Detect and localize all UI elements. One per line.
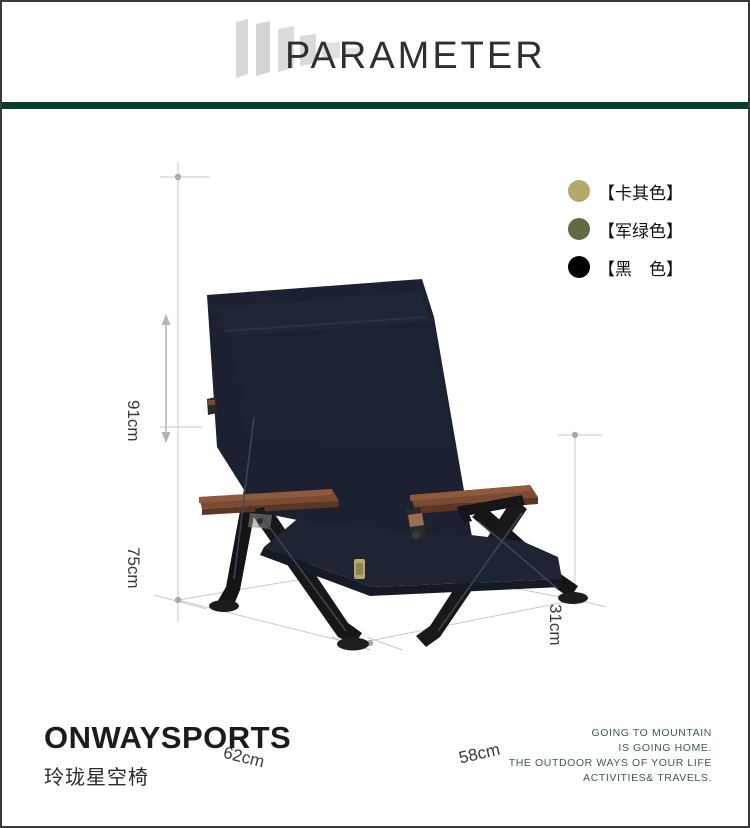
seat-buckle: [354, 559, 365, 579]
folding-recliner-chair: [199, 279, 588, 651]
product-name: 玲珑星空椅: [44, 761, 291, 790]
product-dimension-diagram: 91cm 75cm 31cm 62cm 58cm: [2, 117, 748, 677]
page-footer: ONWAYSPORTS 玲珑星空椅 GOING TO MOUNTAIN IS G…: [2, 708, 748, 826]
dimension-label-seat-height: 31cm: [545, 604, 565, 646]
dimension-label-back-height: 91cm: [123, 400, 143, 442]
dimension-label-seat-back-height: 75cm: [123, 547, 143, 589]
header-divider: [2, 102, 748, 109]
brand-name: ONWAYSPORTS: [44, 720, 291, 756]
tagline-line-3: THE OUTDOOR WAYS OF YOUR LIFE: [509, 756, 712, 771]
tagline-line-2: IS GOING HOME.: [509, 741, 712, 756]
parameter-spec-page: PARAMETER 【卡其色】 【军绿色】 【黑 色】: [0, 0, 750, 828]
brand-block: ONWAYSPORTS 玲珑星空椅: [44, 720, 291, 790]
tagline-block: GOING TO MOUNTAIN IS GOING HOME. THE OUT…: [509, 726, 712, 786]
page-title: PARAMETER: [285, 35, 546, 78]
arrow-head-up: [162, 314, 171, 325]
tagline-line-4: ACTIVITIES& TRAVELS.: [509, 771, 712, 786]
page-header: PARAMETER: [2, 2, 748, 102]
tagline-line-1: GOING TO MOUNTAIN: [509, 726, 712, 741]
arrow-head-down: [162, 432, 171, 443]
